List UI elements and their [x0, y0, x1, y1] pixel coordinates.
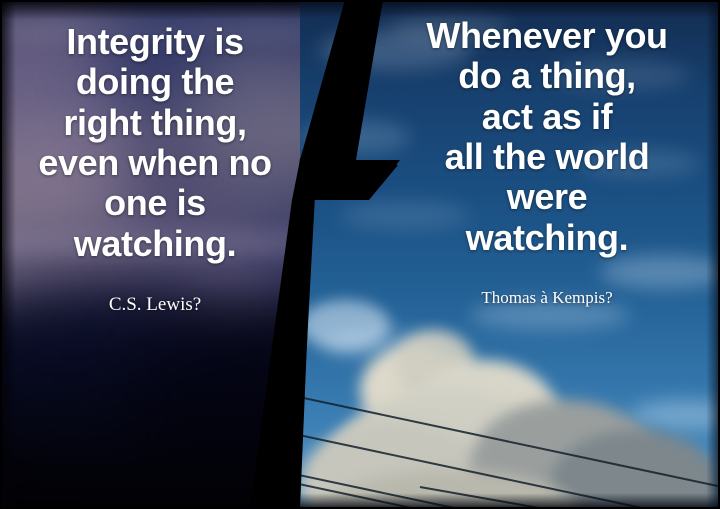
left-quote-attribution: C.S. Lewis? — [0, 294, 310, 316]
left-quote-block: Integrity is doing the right thing, even… — [0, 22, 310, 316]
right-quote-block: Whenever you do a thing, act as if all t… — [382, 16, 712, 308]
quote-poster: Integrity is doing the right thing, even… — [0, 0, 720, 509]
left-quote-text: Integrity is doing the right thing, even… — [0, 22, 310, 264]
right-quote-text: Whenever you do a thing, act as if all t… — [382, 16, 712, 258]
right-quote-attribution: Thomas à Kempis? — [382, 288, 712, 308]
